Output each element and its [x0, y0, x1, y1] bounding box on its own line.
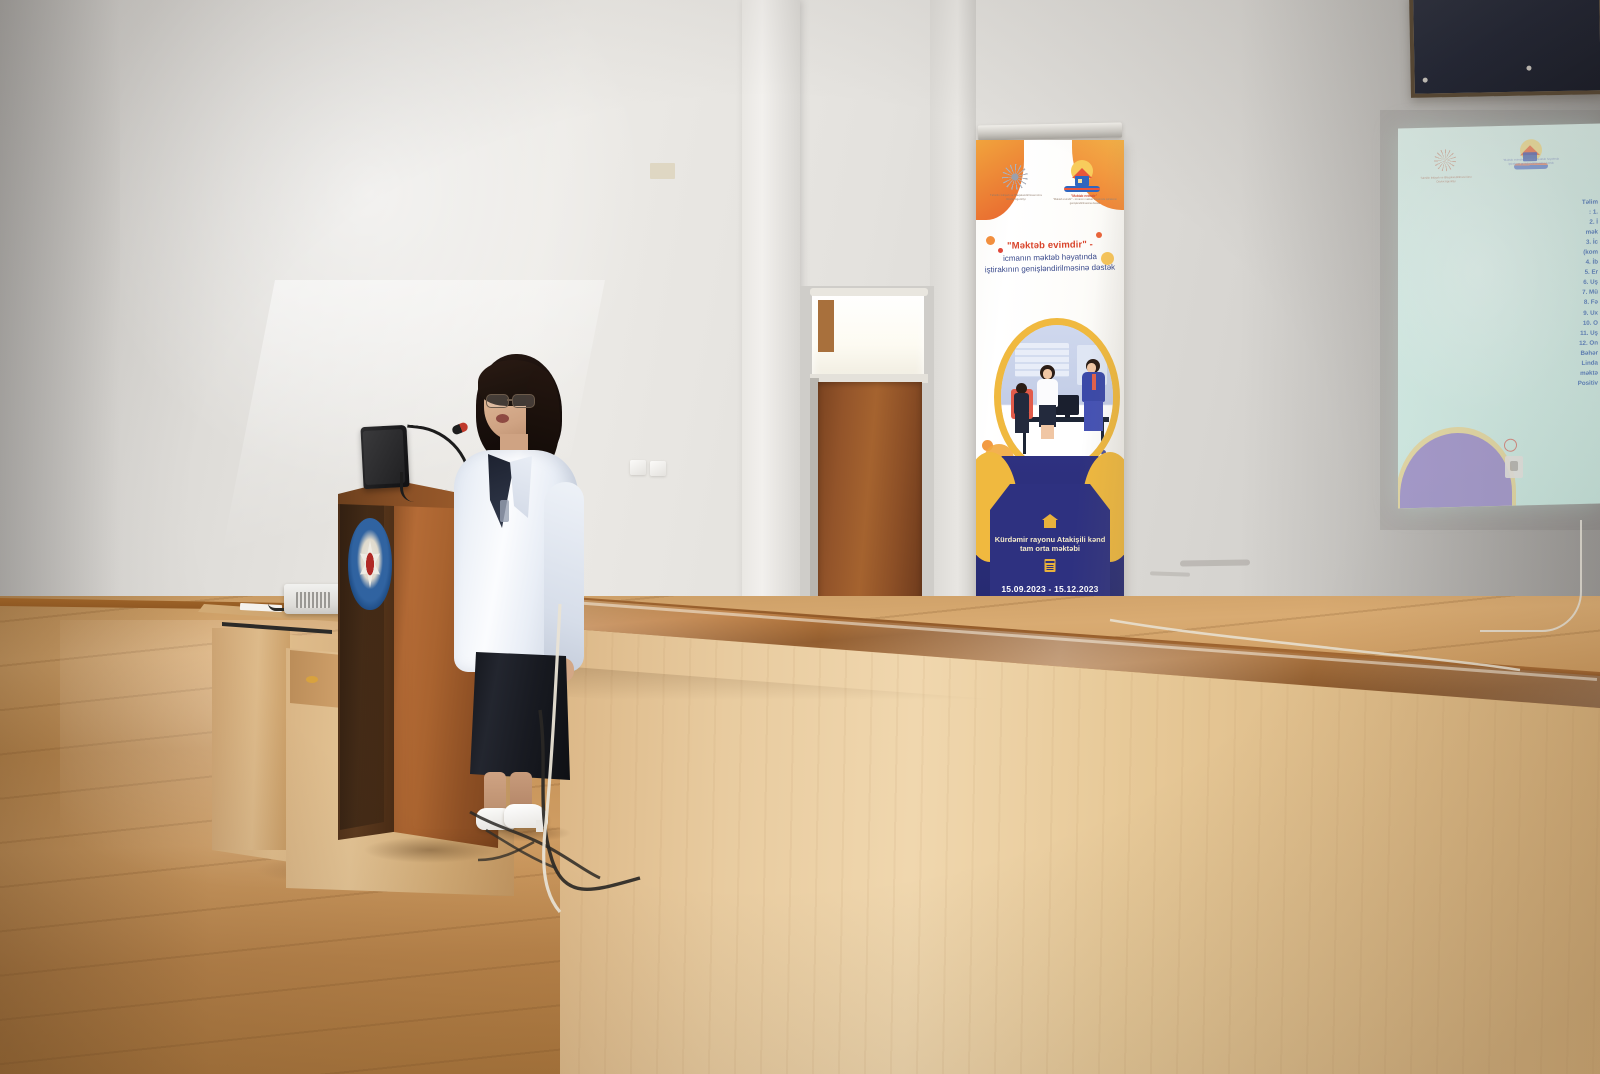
agency-star-logo-icon	[1002, 164, 1028, 190]
illustration-monitor-stand	[1065, 413, 1070, 418]
microphone-cable	[400, 472, 429, 502]
transom-bar	[810, 288, 928, 296]
banner-dot	[1096, 232, 1102, 238]
agency-logo-caption: Təhsilin İnkişafı və Əlaqələndirilməsi ü…	[990, 194, 1042, 212]
banner-subtitle-line-2: iştirakının genişləndirilməsinə dəstək	[982, 262, 1118, 276]
project-logo-icon	[1062, 160, 1102, 196]
illustration-skirt	[1039, 405, 1056, 427]
slide-project-caption: "Məktəb evimdir" - icmanın məktəb həyatı…	[1502, 157, 1560, 172]
wall-power-outlet[interactable]	[1505, 456, 1523, 478]
laptop-bezel	[363, 429, 406, 485]
rollup-banner: Təhsilin İnkişafı və Əlaqələndirilməsi ü…	[976, 140, 1124, 606]
illustration-body	[1037, 379, 1058, 407]
banner-top-rail	[978, 122, 1122, 140]
banner-title-block: "Məktəb evimdir" - icmanın məktəb həyatı…	[976, 240, 1124, 275]
illustration-person-seated-child	[1011, 383, 1033, 435]
conference-hall-photo: Təhsilin İnkişafı və Əlaqələndirilməsi ü…	[0, 0, 1600, 1074]
slide-ring-shape	[1504, 439, 1517, 452]
wall-outlet[interactable]	[650, 461, 666, 476]
eyeglasses-icon	[486, 394, 538, 406]
speaker-shoe-heel	[536, 820, 543, 832]
desk-drawer-knob[interactable]	[306, 676, 318, 683]
wall-pilaster	[742, 0, 800, 612]
slide-numbered-list: Təlim: 1.2. İmək3. İc(kom4. İb5. Er6. Uş…	[1502, 198, 1598, 391]
desk-left-pedestal	[212, 628, 290, 850]
calendar-icon	[1045, 559, 1056, 572]
speaker-mouth	[496, 414, 509, 423]
speaker-person	[448, 352, 588, 822]
speaker-black-skirt	[470, 652, 570, 780]
wall-patch-mark	[650, 163, 675, 179]
wall-scuff-mark	[1180, 559, 1250, 566]
banner-school-name: Kürdəmir rayonu Atakişili kənd tam orta …	[976, 535, 1124, 555]
banner-logo-row: Təhsilin İnkişafı və Əlaqələndirilməsi ü…	[976, 164, 1124, 224]
slide-agency-logo-icon	[1434, 149, 1456, 172]
illustration-face	[1043, 369, 1052, 379]
dark-display-panel	[1409, 0, 1600, 98]
speaker-arm	[544, 482, 584, 672]
school-name-line-2: tam orta məktəbi	[990, 544, 1110, 554]
school-name-line-1: Kürdəmir rayonu Atakişili kənd	[990, 535, 1110, 545]
banner-illustration	[994, 318, 1120, 476]
logo-base-bars	[1064, 186, 1100, 192]
projection-screen: Təhsilin İnkişafı və Əlaqələndirilməsi ü…	[1398, 124, 1600, 509]
illustration-body	[1014, 393, 1029, 415]
power-cord-right	[1480, 520, 1582, 632]
banner-title: "Məktəb evimdir" -	[982, 239, 1118, 252]
glasses-lens-right	[512, 394, 535, 408]
icon-body	[1044, 519, 1056, 528]
illustration-legs	[1084, 401, 1103, 431]
school-building-icon	[1042, 514, 1058, 528]
illustration-tie	[1092, 374, 1096, 390]
slide-list-item: Positiv	[1502, 378, 1598, 390]
speaker-badge	[500, 500, 509, 522]
logo-house-icon	[1068, 168, 1096, 188]
wall-pilaster-secondary	[930, 0, 976, 610]
panel-screw	[1526, 66, 1531, 71]
panel-screw	[1423, 78, 1428, 83]
illustration-legs	[1015, 413, 1029, 433]
logo-window-shape	[1078, 179, 1082, 183]
transom-wood-slat	[818, 300, 834, 352]
illustration-legs	[1041, 425, 1054, 439]
illustration-person-seated-man	[1081, 359, 1107, 439]
illustration-person-standing-woman	[1035, 365, 1061, 441]
project-logo-caption: "Məktəb evimdir" - icmanın məktəb həyatı…	[1052, 198, 1118, 214]
projector-vent	[296, 592, 330, 608]
banner-date-range: 15.09.2023 - 15.12.2023	[976, 584, 1124, 594]
slide-agency-caption: Təhsilin İnkişafı və Əlaqələndirilməsi ü…	[1416, 175, 1476, 192]
wooden-door[interactable]	[818, 382, 922, 610]
glasses-lens-left	[486, 394, 509, 408]
wall-switch[interactable]	[630, 460, 646, 475]
